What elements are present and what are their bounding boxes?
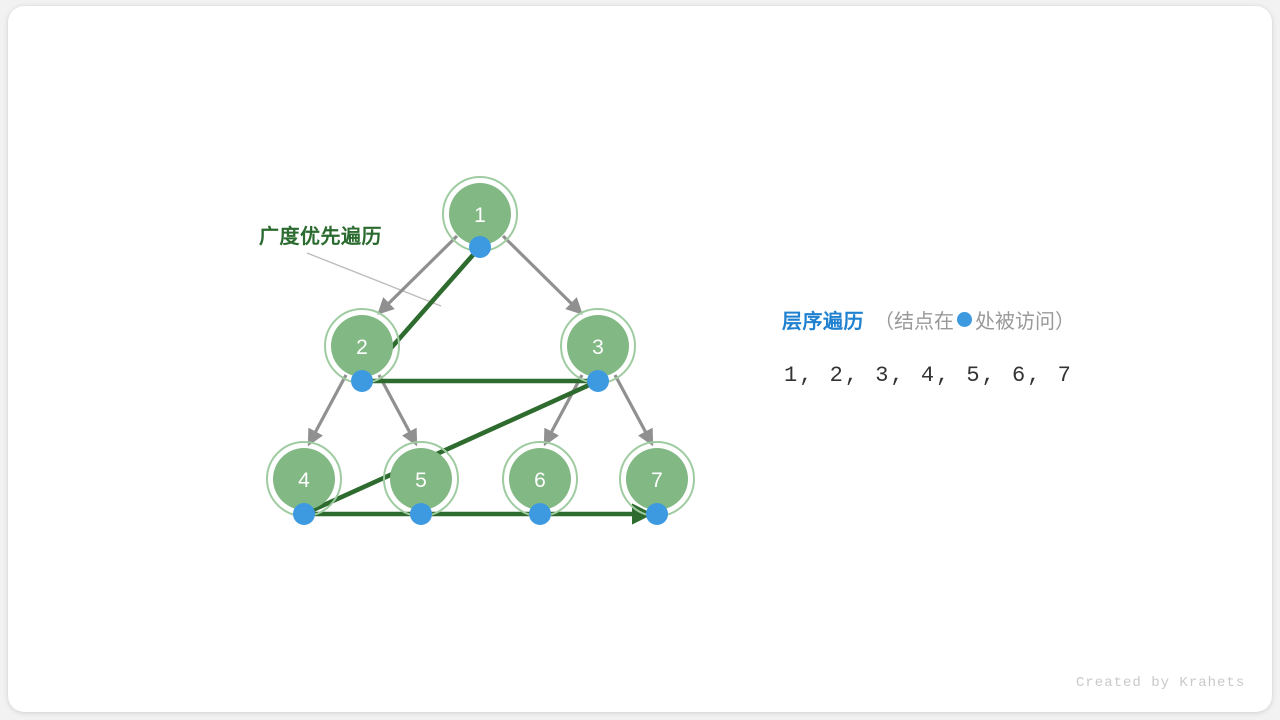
- tree-edge-2-5: [379, 375, 416, 444]
- binary-tree-bfs-diagram: 1 2 3 4: [0, 0, 1280, 720]
- tree-edge-2-4: [309, 375, 346, 444]
- visit-dot-4[interactable]: [293, 503, 315, 525]
- tree-node-2-label: 2: [356, 336, 368, 359]
- tree-edge-1-2: [379, 236, 457, 313]
- visit-dot-1[interactable]: [469, 236, 491, 258]
- traversal-sequence: 1, 2, 3, 4, 5, 6, 7: [784, 363, 1073, 388]
- bfs-annotation-label: 广度优先遍历: [259, 220, 382, 249]
- tree-node-1[interactable]: 1: [443, 177, 517, 258]
- screenshot-stage: 1 2 3 4: [0, 0, 1280, 720]
- tree-node-3-label: 3: [592, 336, 604, 359]
- tree-edge-3-6: [545, 375, 582, 444]
- visit-dot-2[interactable]: [351, 370, 373, 392]
- legend-text-after: 处被访问）: [975, 305, 1075, 334]
- visit-dot-3[interactable]: [587, 370, 609, 392]
- tree-node-4-label: 4: [298, 469, 310, 492]
- tree-node-1-label: 1: [474, 204, 486, 227]
- credit-text: Created by Krahets: [1076, 675, 1245, 691]
- tree-node-5-label: 5: [415, 469, 427, 492]
- tree-node-6-label: 6: [534, 469, 546, 492]
- annotation-leader-line: [307, 253, 441, 306]
- legend-title: 层序遍历: [782, 305, 864, 334]
- visit-dot-7[interactable]: [646, 503, 668, 525]
- legend-description: （结点在 处被访问）: [874, 305, 1075, 334]
- tree-node-7-label: 7: [651, 469, 663, 492]
- legend-text-before: （结点在: [874, 305, 954, 334]
- blue-dot-icon: [957, 312, 972, 327]
- tree-edge-3-7: [615, 375, 652, 444]
- tree-edge-1-3: [503, 236, 581, 313]
- visit-dot-6[interactable]: [529, 503, 551, 525]
- legend: 层序遍历 （结点在 处被访问）: [782, 305, 1075, 334]
- visit-dot-5[interactable]: [410, 503, 432, 525]
